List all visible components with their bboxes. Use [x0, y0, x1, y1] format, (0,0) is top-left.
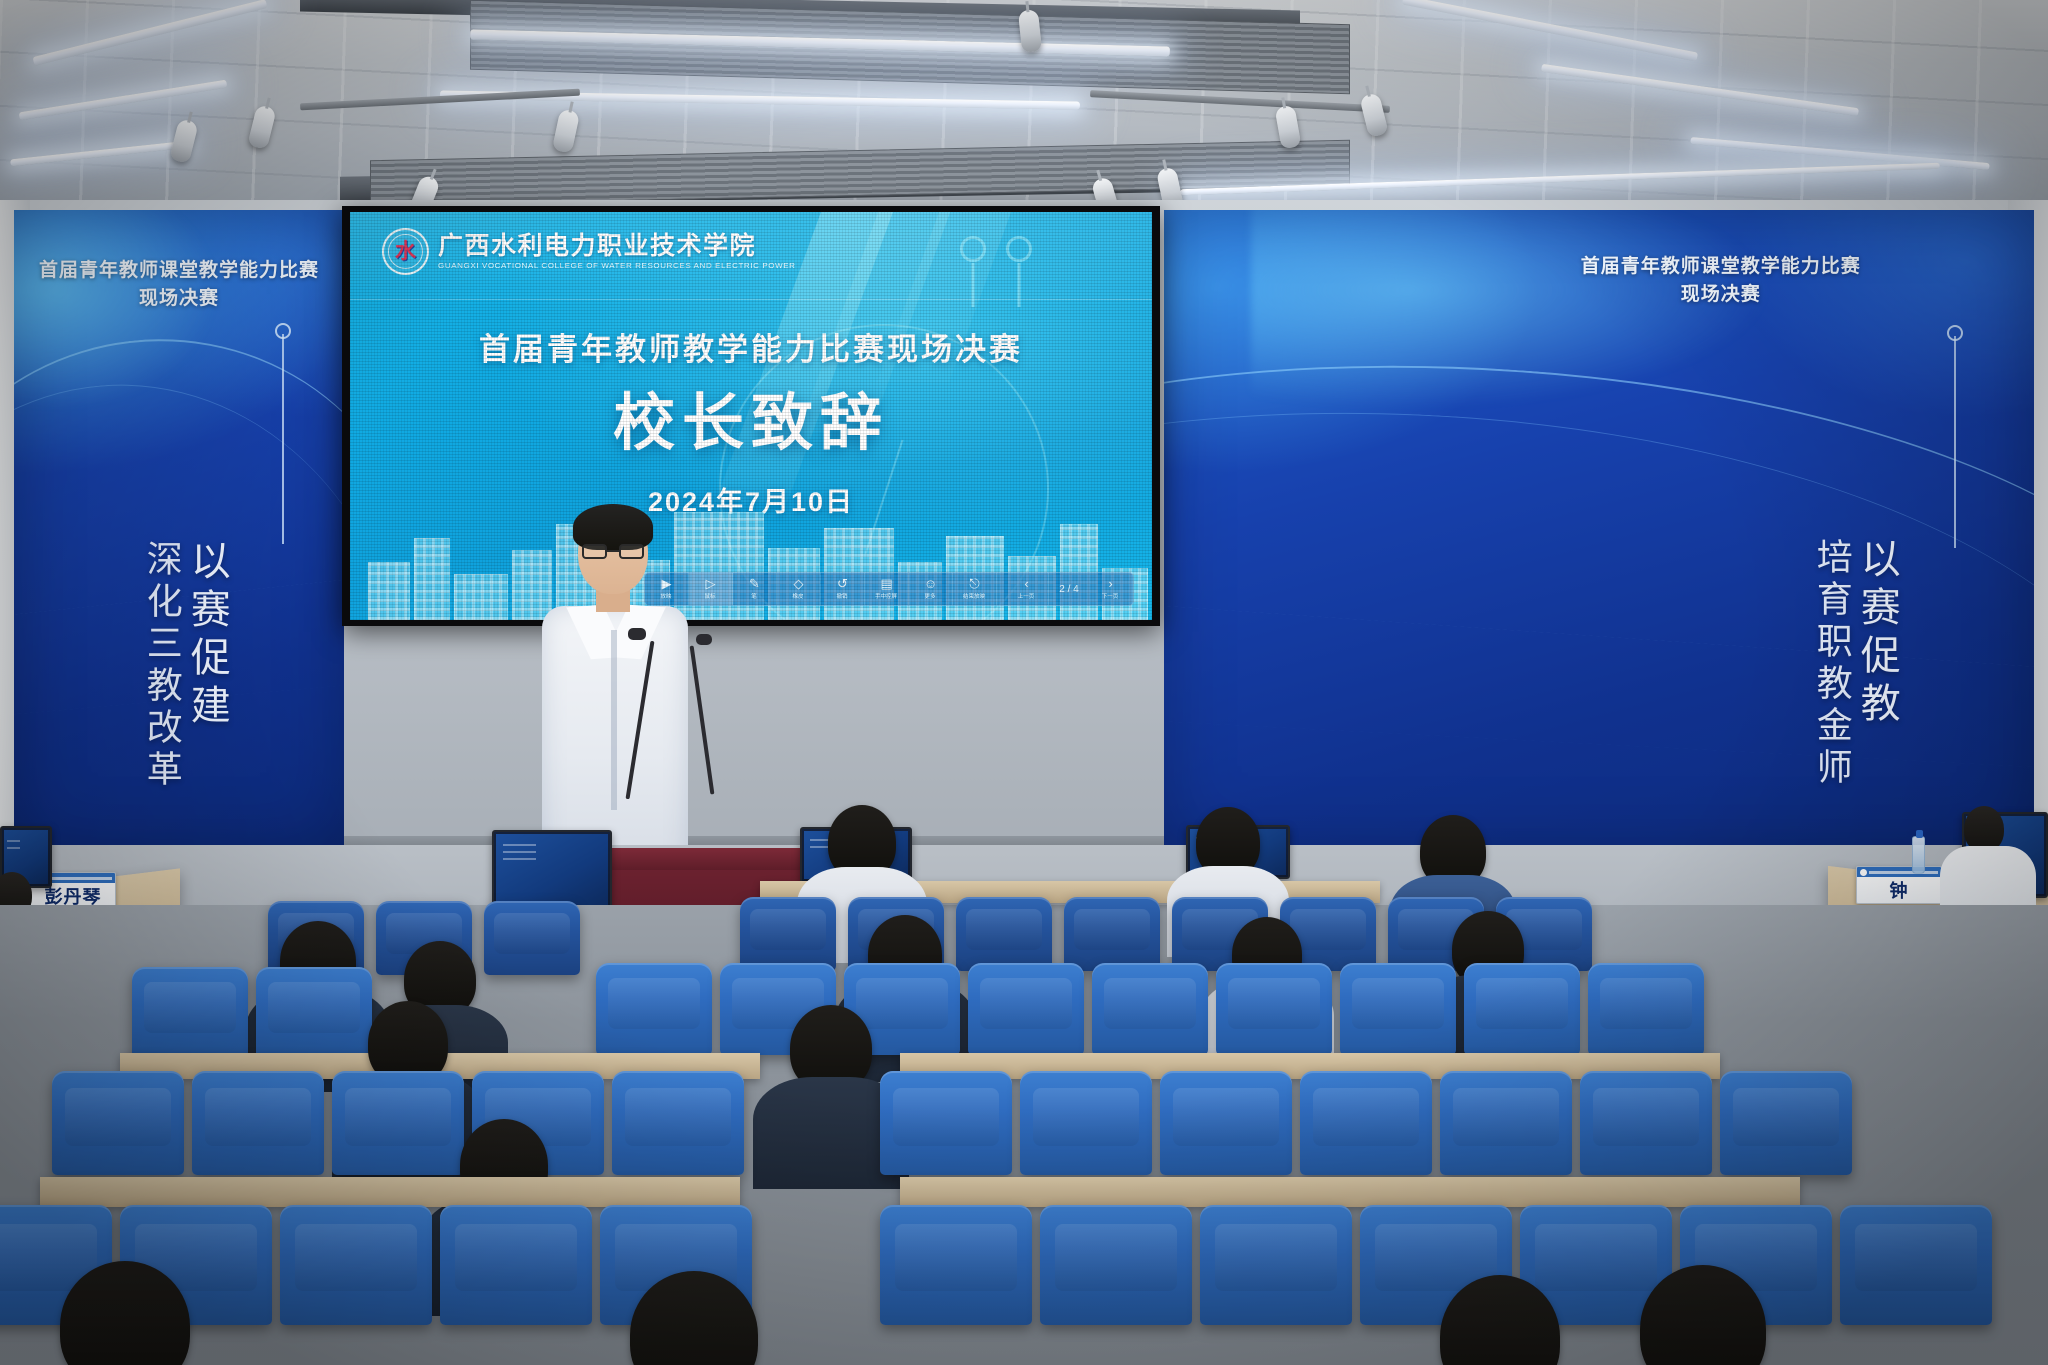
nameplate-logo-icon: [1860, 869, 1867, 876]
audience-chair[interactable]: [1588, 963, 1704, 1055]
banner-left-vertical-main: 以赛促建: [186, 540, 228, 732]
banner-right-heading-line1: 首届青年教师课堂教学能力比赛: [1408, 254, 2034, 280]
banner-left-heading: 首届青年教师课堂教学能力比赛 现场决赛: [14, 258, 344, 314]
toolbar-prev-page[interactable]: ‹ 上一页: [1005, 573, 1049, 605]
audience-chair[interactable]: [280, 1205, 432, 1325]
audience-chair[interactable]: [1020, 1071, 1152, 1175]
audience-head: [1420, 815, 1486, 887]
audience-chair[interactable]: [1216, 963, 1332, 1055]
audience-chair[interactable]: [1092, 963, 1208, 1055]
banner-right-heading-line2: 现场决赛: [1408, 280, 2034, 310]
college-seal-icon: 水: [382, 228, 429, 275]
water-bottle: [1912, 836, 1925, 874]
banner-right-vertical-sub: 培育职教金师: [1812, 538, 1850, 790]
nameplate-org-strip: [43, 877, 112, 880]
banner-left-heading-line1: 首届青年教师课堂教学能力比赛: [14, 258, 344, 284]
banner-right-vertical-text: 培育职教金师 以赛促教: [1812, 538, 1898, 790]
screen-subtitle: 首届青年教师教学能力比赛现场决赛: [350, 324, 1152, 369]
audience-chair[interactable]: [52, 1071, 184, 1175]
banner-left-vertical-text: 深化三教改革 以赛促建: [142, 540, 228, 792]
audience-chair[interactable]: [880, 1205, 1032, 1325]
ring-icon: [960, 236, 986, 262]
chevron-right-icon: ›: [1108, 578, 1112, 590]
banner-right: 首届青年教师课堂教学能力比赛 现场决赛 培育职教金师 以赛促教: [1164, 210, 2034, 850]
audience-chair[interactable]: [968, 963, 1084, 1055]
toolbar-label: 鼠标: [705, 591, 716, 599]
nameplate-org-strip: [1869, 871, 1938, 874]
audience-chair[interactable]: [880, 1071, 1012, 1175]
toolbar-item-cursor[interactable]: ▷ 鼠标: [689, 573, 733, 605]
banner-left-vertical-sub: 深化三教改革: [142, 540, 180, 792]
audience-chair[interactable]: [956, 897, 1052, 971]
audience-head: [790, 1005, 872, 1091]
audience-chair[interactable]: [1300, 1071, 1432, 1175]
toolbar-item-more[interactable]: ☺ 更多: [909, 573, 953, 605]
banner-right-swoosh: [1164, 377, 2034, 774]
eraser-icon: ◇: [794, 578, 804, 590]
screen-headline: 校长致辞: [613, 372, 889, 462]
toolbar-label: 笔: [752, 591, 758, 599]
toolbar-item-eraser[interactable]: ◇ 橡皮: [777, 573, 821, 605]
audience-chair[interactable]: [1040, 1205, 1192, 1325]
toolbar-item-undo[interactable]: ↺ 撤销: [821, 573, 865, 605]
audience-chair[interactable]: [740, 897, 836, 971]
toolbar-label: 更多: [925, 591, 936, 599]
audience-head: [1196, 807, 1260, 877]
audience-seating-area: [0, 905, 2048, 1365]
org-name-block: 广西水利电力职业技术学院 GUANGXI VOCATIONAL COLLEGE …: [438, 233, 796, 270]
presentation-toolbar[interactable]: ▶ 放映 ▷ 鼠标 ✎ 笔 ◇ 橡皮 ↺ 撤销: [644, 572, 1134, 606]
toolbar-label: 撤销: [837, 591, 848, 599]
led-screen[interactable]: 水 广西水利电力职业技术学院 GUANGXI VOCATIONAL COLLEG…: [350, 212, 1152, 620]
screen-icon: ▤: [880, 578, 892, 590]
toolbar-label: 结束放映: [963, 591, 985, 599]
banner-right-heading: 首届青年教师课堂教学能力比赛 现场决赛: [1408, 254, 2034, 310]
nameplate-banner: [1857, 867, 1941, 877]
toolbar-label: 下一页: [1102, 591, 1119, 599]
banner-left-heading-line2: 现场决赛: [14, 284, 344, 314]
audience-chair[interactable]: [256, 967, 372, 1059]
undo-icon: ↺: [837, 578, 848, 590]
audience-head: [828, 805, 896, 879]
banner-left: 首届青年教师课堂教学能力比赛 现场决赛 深化三教改革 以赛促建: [14, 210, 344, 850]
chevron-left-icon: ‹: [1024, 578, 1028, 590]
glasses-icon: [582, 544, 644, 559]
exit-icon: ⎋: [969, 578, 979, 590]
speaker-shirt-placket: [611, 630, 617, 810]
screen-org-logo: 水 广西水利电力职业技术学院 GUANGXI VOCATIONAL COLLEG…: [382, 228, 796, 275]
banner-right-vertical-main: 以赛促教: [1856, 538, 1898, 730]
audience-chair[interactable]: [1720, 1071, 1852, 1175]
toolbar-item-exit[interactable]: ⎋ 结束放映: [953, 573, 997, 605]
toolbar-label: 橡皮: [793, 591, 804, 599]
nameplate-right-name: 钟: [1890, 877, 1909, 903]
toolbar-label: 上一页: [1018, 591, 1035, 599]
more-icon: ☺: [924, 578, 937, 590]
toolbar-item-pen[interactable]: ✎ 笔: [733, 573, 777, 605]
screen-ring-decor: [960, 236, 1032, 262]
banner-right-pin-decor: [1954, 336, 1956, 548]
toolbar-item-screen[interactable]: ▤ 手中控屏: [865, 573, 909, 605]
audience-desk-row: [900, 1177, 1800, 1207]
podium-monitor[interactable]: [492, 830, 612, 910]
audience-chair[interactable]: [1440, 1071, 1572, 1175]
microphone-head: [628, 628, 646, 640]
toolbar-divider: [997, 573, 1005, 605]
led-screen-bezel: 水 广西水利电力职业技术学院 GUANGXI VOCATIONAL COLLEG…: [342, 206, 1160, 626]
photo-scene: 首届青年教师课堂教学能力比赛 现场决赛 深化三教改革 以赛促建 首届青年教师课堂…: [0, 0, 2048, 1365]
toolbar-label: 手中控屏: [875, 591, 897, 599]
audience-chair[interactable]: [612, 1071, 744, 1175]
audience-desk-row: [40, 1177, 740, 1207]
banner-left-pin-decor: [282, 334, 284, 544]
audience-chair[interactable]: [132, 967, 248, 1059]
ring-icon: [1006, 236, 1032, 262]
audience-chair[interactable]: [332, 1071, 464, 1175]
nameplate-right: 钟: [1856, 866, 1942, 904]
college-seal-glyph: 水: [395, 241, 416, 262]
speaker-person: [540, 510, 690, 870]
audience-chair[interactable]: [192, 1071, 324, 1175]
org-name-en: GUANGXI VOCATIONAL COLLEGE OF WATER RESO…: [438, 261, 796, 269]
audience-chair[interactable]: [1340, 963, 1456, 1055]
microphone-head: [696, 634, 712, 645]
audience-chair[interactable]: [1580, 1071, 1712, 1175]
audience-chair[interactable]: [484, 901, 580, 975]
audience-chair[interactable]: [1464, 963, 1580, 1055]
audience-chair[interactable]: [1840, 1205, 1992, 1325]
toolbar-page-indicator: 2 / 4: [1049, 573, 1089, 605]
audience-chair[interactable]: [1064, 897, 1160, 971]
cursor-icon: ▷: [706, 578, 716, 590]
audience-chair[interactable]: [440, 1205, 592, 1325]
audience-chair[interactable]: [1200, 1205, 1352, 1325]
toolbar-next-page[interactable]: › 下一页: [1089, 573, 1133, 605]
audience-chair[interactable]: [1160, 1071, 1292, 1175]
pen-icon: ✎: [749, 578, 760, 590]
audience-chair[interactable]: [596, 963, 712, 1055]
org-name-cn: 广西水利电力职业技术学院: [438, 233, 796, 259]
